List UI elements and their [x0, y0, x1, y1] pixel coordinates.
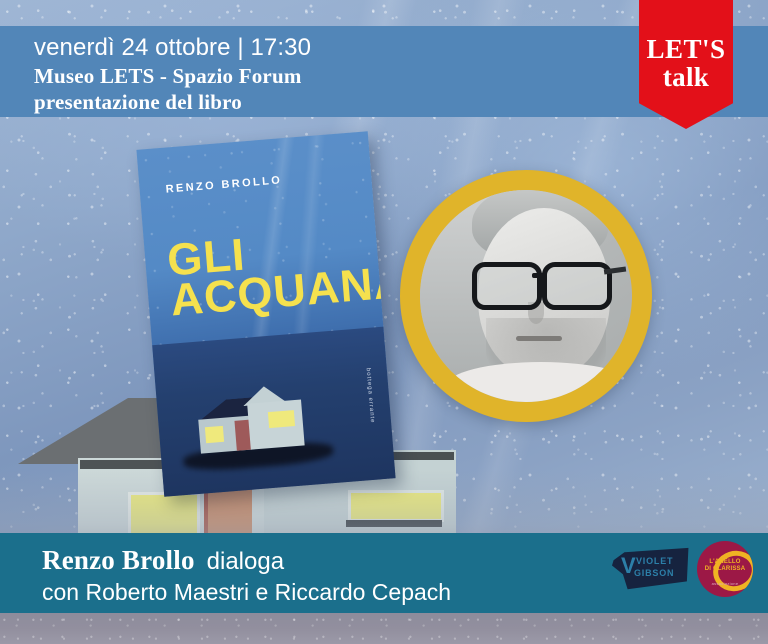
partner-logo-line-3: associazione — [702, 581, 748, 586]
portrait-glasses — [468, 262, 618, 302]
cover-house-window-right — [268, 410, 295, 428]
event-poster: venerdì 24 ottobre | 17:30 Museo LETS - … — [0, 0, 768, 644]
portrait-photo — [420, 190, 632, 402]
speaker-portrait — [400, 170, 652, 422]
glasses-bridge — [532, 273, 544, 278]
event-datetime: venerdì 24 ottobre | 17:30 — [34, 34, 311, 62]
speaker-verb: dialoga — [207, 548, 284, 576]
glasses-lens-left — [472, 262, 542, 310]
partner-logo: L'ANELLO DI CLARISSA associazione — [697, 541, 753, 597]
portrait-shirt — [446, 362, 632, 402]
glasses-lens-right — [542, 262, 612, 310]
speaker-main-name: Renzo Brollo — [42, 545, 195, 576]
partner-logo-line-1: L'ANELLO — [702, 559, 748, 565]
lets-talk-badge: LET'S talk — [639, 0, 733, 129]
violet-gibson-logo: V VIOLET GIBSON — [612, 547, 690, 591]
speakers-line-1: Renzo Brollo dialoga — [42, 545, 284, 576]
violet-gibson-line-1: VIOLET — [636, 556, 673, 566]
cover-house-window-left — [205, 426, 224, 443]
event-venue: Museo LETS - Spazio Forum — [34, 64, 302, 89]
partner-logo-line-2: DI CLARISSA — [702, 566, 748, 572]
badge-line-2: talk — [639, 63, 733, 91]
bottom-strip-speckle — [0, 613, 768, 644]
bottom-texture-strip — [0, 613, 768, 644]
event-type: presentazione del libro — [34, 90, 242, 115]
book-cover: RENZO BROLLO GLI ACQUANAUTI bottega erra… — [136, 131, 395, 496]
portrait-mouth — [516, 336, 562, 341]
badge-line-1: LET'S — [639, 36, 733, 63]
speakers-line-2: con Roberto Maestri e Riccardo Cepach — [42, 579, 451, 606]
violet-gibson-line-2: GIBSON — [634, 568, 674, 578]
cover-house-door — [234, 420, 250, 451]
